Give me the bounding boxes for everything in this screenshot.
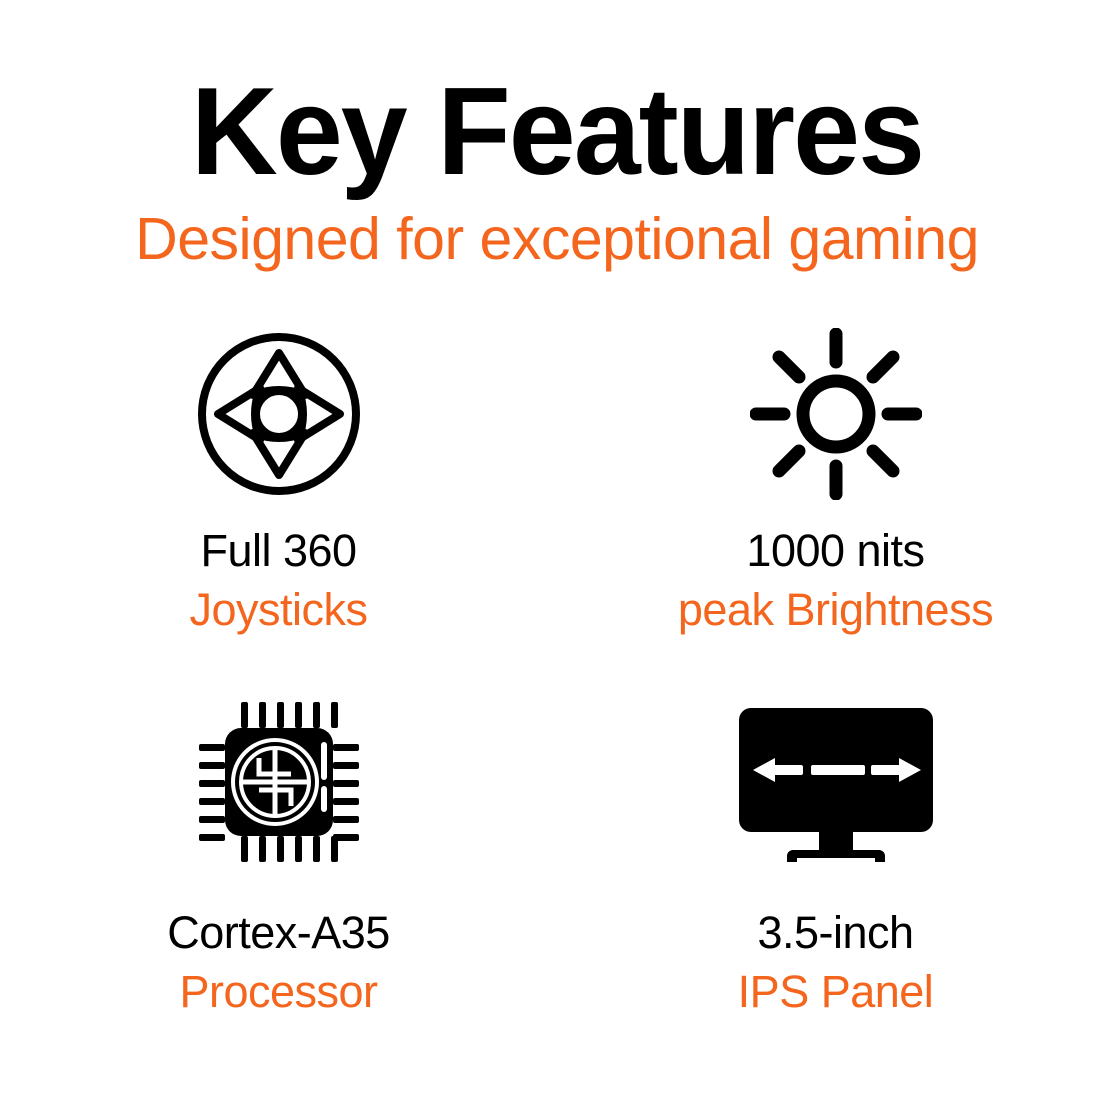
feature-primary-label: Full 360 [189,524,367,577]
joystick-dpad-icon [194,329,364,499]
feature-icon-wrapper [195,686,363,878]
feature-label: Cortex-A35 Processor [167,906,390,1018]
feature-label: 1000 nits peak Brightness [678,524,993,636]
feature-secondary-label: Joysticks [189,583,367,636]
feature-secondary-label: IPS Panel [738,965,934,1018]
page-subtitle: Designed for exceptional gaming [0,210,1114,269]
feature-secondary-label: Processor [167,965,390,1018]
page-title: Key Features [17,70,1098,194]
feature-grid: Full 360 Joysticks [0,316,1114,1056]
brightness-sun-icon [750,328,922,500]
feature-item-processor: Cortex-A35 Processor [0,686,557,1056]
feature-item-display: 3.5-inch IPS Panel [557,686,1114,1056]
feature-icon-wrapper [731,686,941,878]
feature-icon-wrapper [194,316,364,512]
feature-secondary-label: peak Brightness [678,583,993,636]
key-features-infographic: Key Features Designed for exceptional ga… [0,0,1114,1112]
header: Key Features Designed for exceptional ga… [0,70,1114,269]
feature-item-brightness: 1000 nits peak Brightness [557,316,1114,686]
feature-item-joysticks: Full 360 Joysticks [0,316,557,686]
processor-chip-icon [195,698,363,866]
display-monitor-icon [731,702,941,862]
feature-primary-label: 1000 nits [678,524,993,577]
feature-icon-wrapper [750,316,922,512]
feature-label: 3.5-inch IPS Panel [738,906,934,1018]
feature-label: Full 360 Joysticks [189,524,367,636]
feature-primary-label: Cortex-A35 [167,906,390,959]
feature-primary-label: 3.5-inch [738,906,934,959]
